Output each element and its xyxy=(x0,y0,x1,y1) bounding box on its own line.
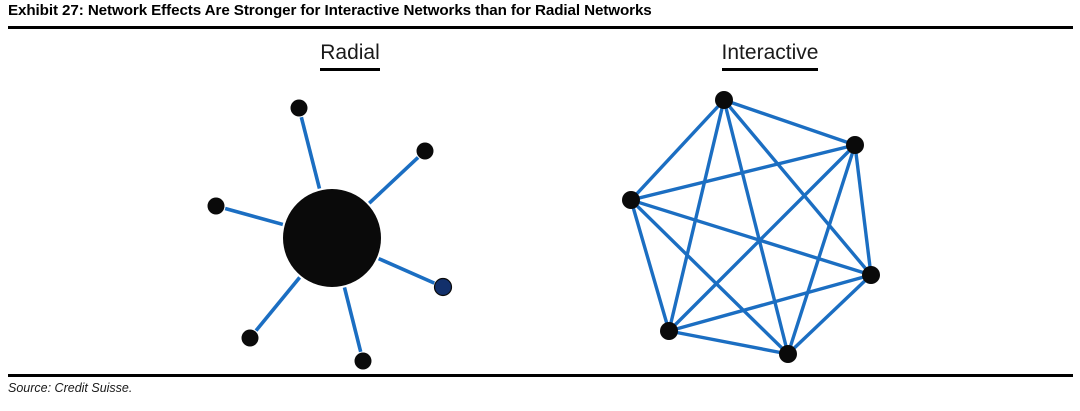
radial-edge xyxy=(301,117,319,188)
interactive-node xyxy=(715,91,733,109)
interactive-node xyxy=(862,266,880,284)
interactive-edge xyxy=(631,145,855,200)
exhibit-container: Exhibit 27: Network Effects Are Stronger… xyxy=(0,0,1080,411)
interactive-edge xyxy=(669,145,855,331)
network-figures xyxy=(0,0,1080,411)
radial-node xyxy=(291,100,308,117)
radial-edge xyxy=(369,157,418,203)
radial-node xyxy=(208,198,225,215)
interactive-edge xyxy=(855,145,871,275)
source-note: Source: Credit Suisse. xyxy=(8,381,132,395)
radial-node-group xyxy=(208,100,452,370)
radial-edge xyxy=(379,259,435,284)
radial-node-hub xyxy=(283,189,381,287)
radial-edge xyxy=(344,287,360,351)
radial-node xyxy=(242,330,259,347)
interactive-node xyxy=(622,191,640,209)
interactive-node xyxy=(779,345,797,363)
radial-node xyxy=(355,353,372,370)
interactive-node xyxy=(660,322,678,340)
interactive-edge xyxy=(631,100,724,200)
footer-divider xyxy=(8,374,1073,377)
interactive-node xyxy=(846,136,864,154)
network-diagram-svg xyxy=(0,0,1080,411)
radial-node xyxy=(417,143,434,160)
interactive-edge-group xyxy=(631,100,871,354)
radial-node xyxy=(435,279,452,296)
radial-edge xyxy=(225,209,283,225)
radial-edge xyxy=(256,277,300,330)
